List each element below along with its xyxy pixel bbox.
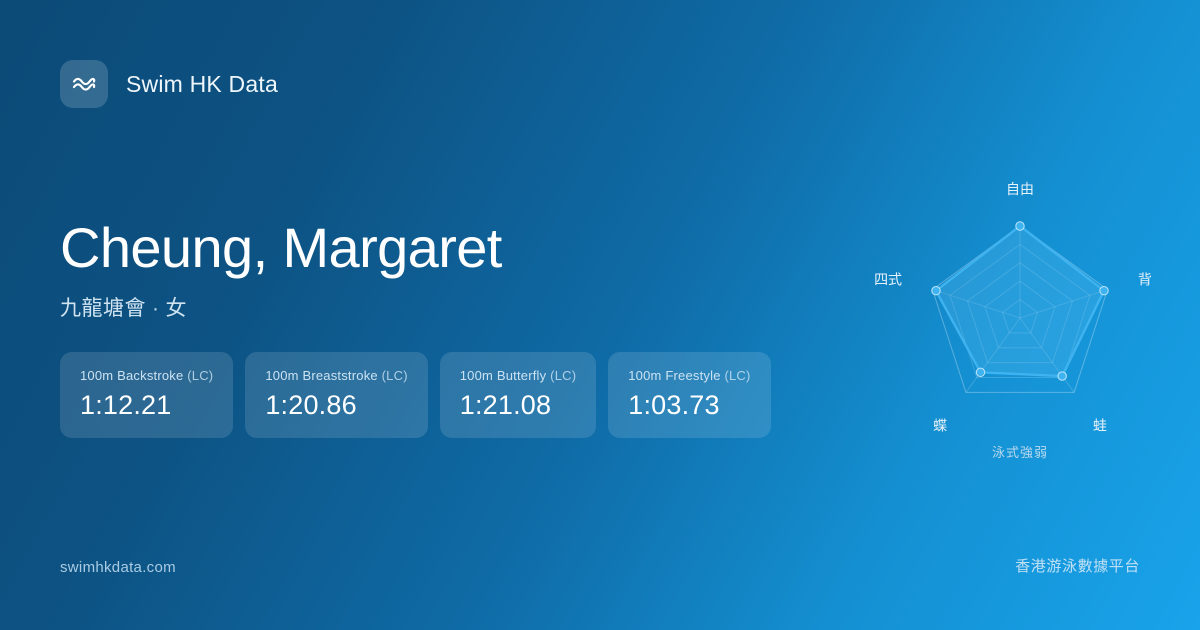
event-course: (LC) <box>550 368 576 383</box>
event-card[interactable]: 100m Freestyle (LC) 1:03.73 <box>608 352 770 438</box>
radar-axis-label-3: 蝶 <box>933 417 947 433</box>
brand-name: Swim HK Data <box>126 71 278 98</box>
radar-axis-label-4: 四式 <box>874 272 902 288</box>
footer-tagline: 香港游泳數據平台 <box>1015 555 1140 576</box>
event-name: 100m Butterfly <box>460 368 547 383</box>
event-time: 1:20.86 <box>265 390 407 421</box>
event-name: 100m Freestyle <box>628 368 720 383</box>
event-time: 1:21.08 <box>460 390 577 421</box>
radar-data-point-0 <box>1016 222 1024 230</box>
radar-data-point-1 <box>1100 287 1108 295</box>
radar-data-point-2 <box>1058 372 1066 380</box>
radar-data-polygon <box>936 226 1104 376</box>
event-name: 100m Backstroke <box>80 368 183 383</box>
event-course: (LC) <box>724 368 750 383</box>
wave-icon <box>60 60 108 108</box>
meta-separator: · <box>146 297 166 320</box>
event-name: 100m Breaststroke <box>265 368 378 383</box>
event-card[interactable]: 100m Backstroke (LC) 1:12.21 <box>60 352 233 438</box>
event-card[interactable]: 100m Breaststroke (LC) 1:20.86 <box>245 352 427 438</box>
brand-header[interactable]: Swim HK Data <box>60 60 278 108</box>
event-course: (LC) <box>187 368 213 383</box>
event-course: (LC) <box>382 368 408 383</box>
footer-site-url: swimhkdata.com <box>60 559 176 576</box>
radar-chart-caption: 泳式強弱 <box>860 442 1180 461</box>
event-card-label: 100m Backstroke (LC) <box>80 368 213 383</box>
athlete-meta: 九龍塘會·女 <box>60 292 502 322</box>
page-title: Cheung, Margaret <box>60 218 502 278</box>
event-card-label: 100m Breaststroke (LC) <box>265 368 407 383</box>
radar-data-point-4 <box>932 287 940 295</box>
event-card-label: 100m Butterfly (LC) <box>460 368 577 383</box>
event-time: 1:03.73 <box>628 390 750 421</box>
event-time: 1:12.21 <box>80 390 213 421</box>
radar-data-point-3 <box>976 368 984 376</box>
radar-axis-label-0: 自由 <box>1006 181 1034 197</box>
athlete-gender: 女 <box>166 297 188 320</box>
radar-axis-label-1: 背 <box>1138 272 1152 288</box>
stroke-radar-chart: 自由背蛙蝶四式 <box>860 160 1180 480</box>
radar-svg: 自由背蛙蝶四式 <box>860 160 1180 480</box>
athlete-hero: Cheung, Margaret 九龍塘會·女 <box>60 218 502 322</box>
radar-axis-label-2: 蛙 <box>1093 417 1107 433</box>
event-card-list: 100m Backstroke (LC) 1:12.21 100m Breast… <box>60 352 771 438</box>
event-card-label: 100m Freestyle (LC) <box>628 368 750 383</box>
athlete-club: 九龍塘會 <box>60 297 146 320</box>
event-card[interactable]: 100m Butterfly (LC) 1:21.08 <box>440 352 597 438</box>
